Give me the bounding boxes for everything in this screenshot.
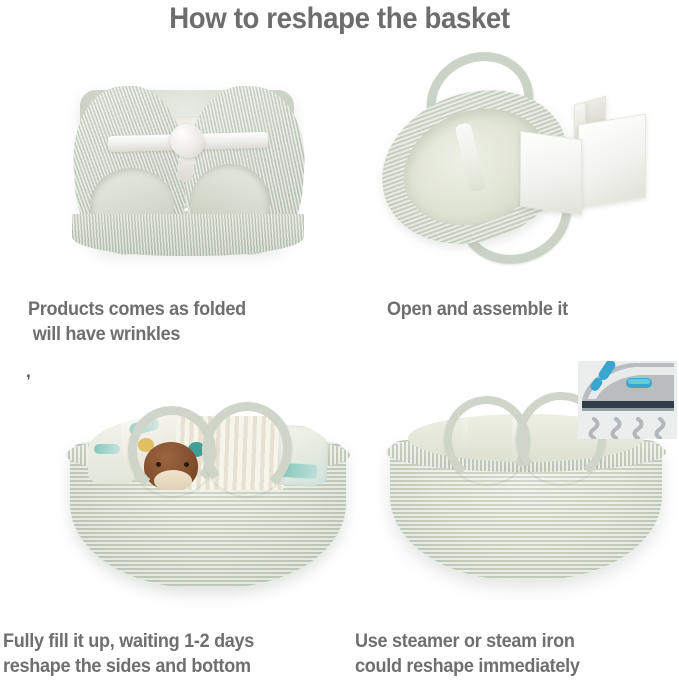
step-4-caption: Use steamer or steam iron could reshape … [355,629,580,679]
step-1-caption-line2: will have wrinkles [28,324,180,345]
step-2-caption-line1: Open and assemble it [387,299,568,320]
roll-base-coil [72,214,304,256]
divider-insert [516,91,656,211]
steam-iron-icon [578,361,677,439]
divider-panel-right [578,114,646,209]
step-3-caption-line2: reshape the sides and bottom [3,656,251,677]
page-title: How to reshape the basket [27,2,652,36]
steam-iron-glyph [578,361,677,439]
step-1-caption: Products comes as folded will have wrink… [28,297,246,347]
step-3-caption-line1: Fully fill it up, waiting 1-2 days [3,631,254,652]
step-3-image-filled-basket [62,400,354,600]
rolled-basket-illustration [62,72,312,262]
liner-fold [455,122,487,193]
step-1-image-rolled-basket [62,72,312,262]
step-1-caption-extra: , [26,362,31,382]
divider-panel-left [520,131,582,216]
step-2-image-open-basket [370,45,670,265]
step-4-caption-line1: Use steamer or steam iron [355,631,575,652]
ribbon-knot [170,124,204,158]
infographic-page: How to reshape the basket [0,0,679,687]
step-3-caption: Fully fill it up, waiting 1-2 days resha… [3,629,254,679]
step-4-caption-line2: could reshape immediately [355,656,580,677]
step-1-caption-line1: Products comes as folded [28,299,246,320]
step-2-caption: Open and assemble it [387,297,568,322]
